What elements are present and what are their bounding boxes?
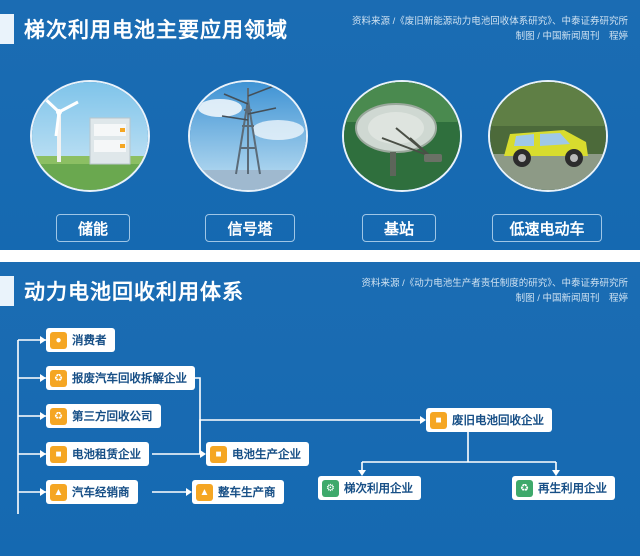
node-cascade-use-label: 梯次利用企业 [344, 480, 413, 496]
node-third-party[interactable]: ♻ 第三方回收公司 [46, 404, 161, 428]
car-icon: ▲ [50, 484, 67, 501]
node-third-party-label: 第三方回收公司 [72, 408, 153, 424]
panel-divider [0, 250, 640, 262]
panel-bottom-source-line2: 制图 / 中国新闻周刊 程婷 [361, 291, 628, 306]
gear-icon: ⚙ [322, 480, 339, 497]
node-battery-lease[interactable]: ■ 电池租赁企业 [46, 442, 149, 466]
panel-bottom-title: 动力电池回收利用体系 [24, 276, 244, 306]
recycle-icon: ♻ [50, 408, 67, 425]
node-battery-lease-label: 电池租赁企业 [72, 446, 141, 462]
panel-bottom-source-line1: 资料来源 /《动力电池生产者责任制度的研究》、中泰证券研究所 [361, 276, 628, 291]
photo-caption-ev: 低速电动车 [492, 214, 602, 242]
node-battery-maker[interactable]: ■ 电池生产企业 [206, 442, 309, 466]
node-vehicle-maker[interactable]: ▲ 整车生产商 [192, 480, 284, 504]
panel-top-title: 梯次利用电池主要应用领域 [24, 14, 288, 44]
node-cascade-use[interactable]: ⚙ 梯次利用企业 [318, 476, 421, 500]
node-reuse-label: 再生利用企业 [538, 480, 607, 496]
panel-top-header: 梯次利用电池主要应用领域 资料来源 /《废旧新能源动力电池回收体系研究》、中泰证… [0, 0, 640, 56]
node-vehicle-maker-label: 整车生产商 [218, 484, 276, 500]
node-reuse[interactable]: ♻ 再生利用企业 [512, 476, 615, 500]
panel-top-source: 资料来源 /《废旧新能源动力电池回收体系研究》、中泰证券研究所 制图 / 中国新… [352, 14, 628, 44]
photo-row [0, 80, 640, 190]
signal-tower-photo [188, 80, 308, 192]
recycling-flow-diagram: ● 消费者 ♻ 报废汽车回收拆解企业 ♻ 第三方回收公司 ■ 电池租赁企业 ▲ … [0, 324, 640, 556]
battery-icon: ■ [210, 446, 227, 463]
node-consumer-label: 消费者 [72, 332, 107, 348]
node-consumer[interactable]: ● 消费者 [46, 328, 115, 352]
photo-caption-storage: 储能 [56, 214, 130, 242]
battery-icon: ■ [430, 412, 447, 429]
panel-recycling-system: 动力电池回收利用体系 资料来源 /《动力电池生产者责任制度的研究》、中泰证券研究… [0, 262, 640, 556]
node-scrap-car[interactable]: ♻ 报废汽车回收拆解企业 [46, 366, 195, 390]
panel-bottom-source: 资料来源 /《动力电池生产者责任制度的研究》、中泰证券研究所 制图 / 中国新闻… [361, 276, 628, 306]
base-station-antenna-photo [342, 80, 462, 192]
flow-connector-lines [0, 324, 640, 556]
node-waste-recycle[interactable]: ■ 废旧电池回收企业 [426, 408, 552, 432]
wind-turbine-storage-photo [30, 80, 150, 192]
node-car-dealer-label: 汽车经销商 [72, 484, 130, 500]
header-accent-bar-2 [0, 276, 14, 306]
battery-icon: ■ [50, 446, 67, 463]
recycle-icon: ♻ [516, 480, 533, 497]
panel-top-source-line2: 制图 / 中国新闻周刊 程婷 [352, 29, 628, 44]
node-scrap-car-label: 报废汽车回收拆解企业 [72, 370, 187, 386]
panel-bottom-header: 动力电池回收利用体系 资料来源 /《动力电池生产者责任制度的研究》、中泰证券研究… [0, 262, 640, 318]
node-car-dealer[interactable]: ▲ 汽车经销商 [46, 480, 138, 504]
person-icon: ● [50, 332, 67, 349]
recycle-car-icon: ♻ [50, 370, 67, 387]
panel-cascade-applications: 梯次利用电池主要应用领域 资料来源 /《废旧新能源动力电池回收体系研究》、中泰证… [0, 0, 640, 250]
panel-top-source-line1: 资料来源 /《废旧新能源动力电池回收体系研究》、中泰证券研究所 [352, 14, 628, 29]
photo-caption-tower: 信号塔 [205, 214, 295, 242]
node-battery-maker-label: 电池生产企业 [232, 446, 301, 462]
node-waste-recycle-label: 废旧电池回收企业 [452, 412, 544, 428]
car-icon: ▲ [196, 484, 213, 501]
low-speed-electric-car-photo [488, 80, 608, 192]
photo-caption-station: 基站 [362, 214, 436, 242]
header-accent-bar [0, 14, 14, 44]
